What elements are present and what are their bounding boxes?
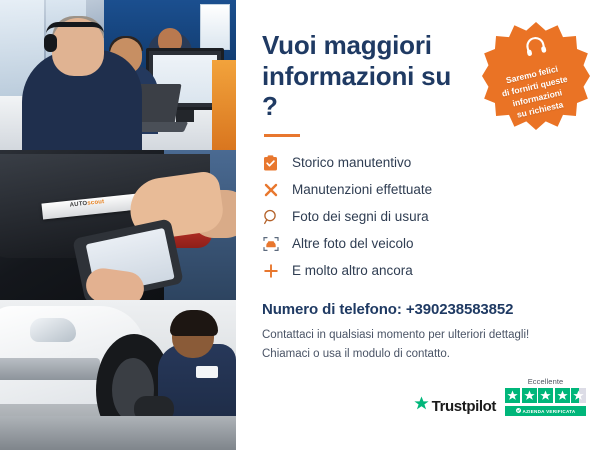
- star-rating: [505, 388, 586, 403]
- trustpilot-name: Trustpilot: [432, 398, 496, 415]
- contact-text: Contattaci in qualsiasi momento per ulte…: [262, 326, 578, 363]
- feature-item-altre-foto: Altre foto del veicolo: [262, 230, 578, 257]
- callout-badge: Saremo felici di fornirti queste informa…: [482, 22, 590, 130]
- feature-item-storico: Storico manutentivo: [262, 149, 578, 176]
- verified-label: AZIENDA VERIFICATA: [523, 409, 576, 414]
- tools-cross-icon: [262, 181, 279, 198]
- verified-badge: AZIENDA VERIFICATA: [505, 406, 586, 416]
- feature-label: Manutenzioni effettuate: [292, 182, 432, 197]
- workshop-photo: [0, 300, 236, 450]
- plus-icon: [262, 262, 279, 279]
- headset-band: [46, 22, 104, 34]
- feature-label: Altre foto del veicolo: [292, 236, 414, 251]
- feature-label: Foto dei segni di usura: [292, 209, 429, 224]
- front-grille: [0, 358, 100, 380]
- uniform-patch: [196, 366, 218, 378]
- photo-strip: AUTOscout: [0, 0, 236, 450]
- promo-banner: AUTOscout Vuoi maggiori informazioni su …: [0, 0, 600, 450]
- feature-item-altro: E molto altro ancora: [262, 257, 578, 284]
- trustpilot-widget[interactable]: Trustpilot Eccellente: [414, 377, 586, 416]
- contact-line-2: Chiamaci o usa il modulo di contatto.: [262, 345, 578, 364]
- star-1: [505, 388, 520, 403]
- rating-label: Eccellente: [505, 377, 586, 386]
- clipboard-check-icon: [262, 154, 279, 171]
- feature-item-foto-usura: Foto dei segni di usura: [262, 203, 578, 230]
- wall-poster: [200, 4, 230, 50]
- feature-list: Storico manutentivo Manutenzioni effettu…: [262, 149, 578, 284]
- call-center-photo: [0, 0, 236, 150]
- star-5-half: [571, 388, 586, 403]
- inspection-photo: AUTOscout: [0, 150, 236, 300]
- star-2: [522, 388, 537, 403]
- check-circle-icon: [516, 408, 521, 414]
- trustpilot-logo: Trustpilot: [414, 396, 496, 416]
- car-lift: [0, 416, 236, 450]
- content-panel: Vuoi maggiori informazioni su ? Saremo f…: [236, 0, 600, 450]
- star-4: [555, 388, 570, 403]
- orange-panel: [212, 60, 236, 150]
- page-title: Vuoi maggiori informazioni su ?: [262, 30, 462, 122]
- car-frame-icon: [262, 235, 279, 252]
- magnifier-icon: [262, 208, 279, 225]
- phone-number: Numero di telefono: +390238583852: [262, 301, 578, 318]
- title-divider: [264, 134, 300, 137]
- trustpilot-star-icon: [414, 396, 429, 416]
- monitor-stand: [176, 110, 194, 122]
- trustpilot-rating: Eccellente: [505, 377, 586, 416]
- contact-line-1: Contattaci in qualsiasi momento per ulte…: [262, 326, 578, 345]
- feature-item-manutenzioni: Manutenzioni effettuate: [262, 176, 578, 203]
- headlight: [30, 318, 76, 342]
- star-3: [538, 388, 553, 403]
- feature-label: E molto altro ancora: [292, 263, 413, 278]
- feature-label: Storico manutentivo: [292, 155, 411, 170]
- headset-earcup: [44, 34, 57, 52]
